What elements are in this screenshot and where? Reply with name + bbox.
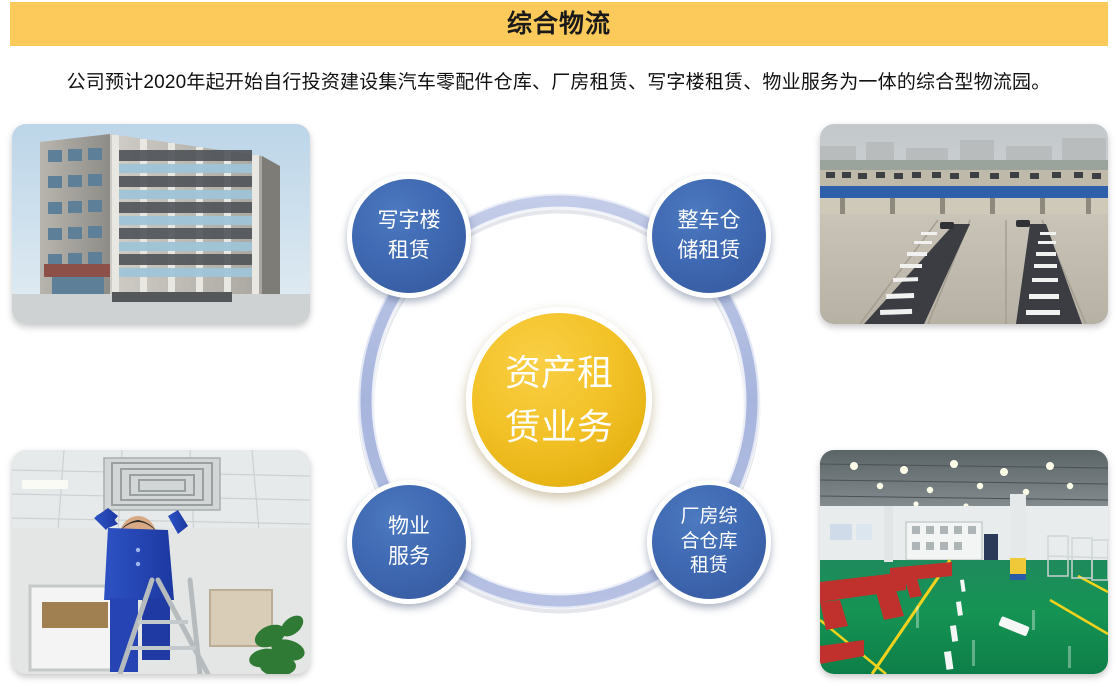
center-node-line-2: 赁业务 xyxy=(505,400,613,454)
node-plant-warehouse-lease[interactable]: 厂房综 合仓库 租赁 xyxy=(647,480,771,604)
node-vehicle-storage-lease[interactable]: 整车仓 储租赁 xyxy=(647,174,771,298)
node-plant-warehouse-lease-line-1: 厂房综 xyxy=(680,505,737,530)
photo-office-building xyxy=(12,124,310,324)
photo-vehicle-storage-yard xyxy=(820,124,1108,324)
node-vehicle-storage-lease-line-1: 整车仓 xyxy=(678,206,741,236)
maintenance-worker-illustration xyxy=(12,450,310,674)
node-office-lease-line-1: 写字楼 xyxy=(378,206,441,236)
photo-warehouse-interior xyxy=(820,450,1108,674)
node-property-service[interactable]: 物业 服务 xyxy=(347,480,471,604)
node-property-service-line-2: 服务 xyxy=(388,542,430,572)
photo-property-maintenance xyxy=(12,450,310,674)
center-node-asset-leasing[interactable]: 资产租 赁业务 xyxy=(466,307,652,493)
node-plant-warehouse-lease-line-2: 合仓库 xyxy=(680,530,737,555)
asset-leasing-diagram: 写字楼 租赁 整车仓 储租赁 物业 服务 厂房综 合仓库 租赁 资产租 赁业务 xyxy=(333,150,785,650)
node-plant-warehouse-lease-line-3: 租赁 xyxy=(690,554,728,579)
intro-paragraph: 公司预计2020年起开始自行投资建设集汽车零配件仓库、厂房租赁、写字楼租赁、物业… xyxy=(0,70,1117,97)
node-office-lease-line-2: 租赁 xyxy=(388,236,430,266)
node-office-lease[interactable]: 写字楼 租赁 xyxy=(347,174,471,298)
warehouse-interior-illustration xyxy=(820,450,1108,674)
page-title: 综合物流 xyxy=(507,12,611,37)
office-building-illustration xyxy=(12,124,310,324)
page-header-bar: 综合物流 xyxy=(10,2,1108,46)
node-property-service-line-1: 物业 xyxy=(388,512,430,542)
center-node-line-1: 资产租 xyxy=(505,346,613,400)
vehicle-yard-illustration xyxy=(820,124,1108,324)
node-vehicle-storage-lease-line-2: 储租赁 xyxy=(678,236,741,266)
